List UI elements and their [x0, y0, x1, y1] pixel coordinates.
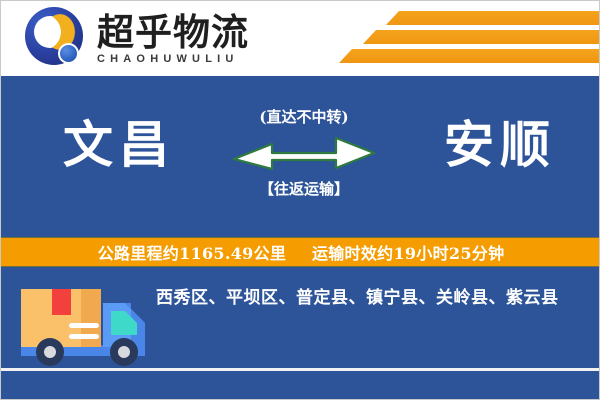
- banner-header: 超乎物流 CHAOHUWULIU: [1, 1, 600, 76]
- duration-text: 运输时效约19小时25分钟: [312, 244, 504, 263]
- brand-name-cn: 超乎物流: [97, 14, 249, 51]
- route-panel: 文昌 (直达不中转) 【往返运输】 安顺: [1, 76, 600, 237]
- stripe-3: [339, 49, 600, 63]
- brand-wordmark: 超乎物流 CHAOHUWULIU: [97, 14, 249, 65]
- brand-logo[interactable]: 超乎物流 CHAOHUWULIU: [25, 7, 249, 71]
- ground-line: [1, 368, 600, 371]
- coverage-districts-list: 西秀区、平坝区、普定县、镇宁县、关岭县、紫云县: [156, 283, 586, 308]
- origin-city: 文昌: [63, 120, 175, 170]
- route-caption-direct: (直达不中转): [229, 106, 379, 127]
- stripe-2: [363, 30, 600, 44]
- chaohu-logistics-circle-logo-icon: [25, 7, 89, 71]
- header-stripes-decoration: [301, 9, 600, 69]
- logistics-route-banner: 超乎物流 CHAOHUWULIU 文昌 (直达不中转) 【往返运输】 安顺 公路…: [0, 0, 600, 400]
- distance-text: 公路里程约1165.49公里: [98, 244, 287, 263]
- brand-name-pinyin: CHAOHUWULIU: [97, 54, 249, 65]
- route-caption-roundtrip: 【往返运输】: [229, 178, 379, 199]
- info-bar-text: 公路里程约1165.49公里 运输时效约19小时25分钟: [98, 240, 505, 264]
- logo-dot: [58, 43, 79, 64]
- route-arrow-group: (直达不中转) 【往返运输】: [229, 106, 379, 206]
- coverage-panel: 西秀区、平坝区、普定县、镇宁县、关岭县、紫云县: [1, 267, 600, 399]
- delivery-truck-icon: [19, 279, 154, 374]
- route-info-bar: 公路里程约1165.49公里 运输时效约19小时25分钟: [1, 237, 600, 267]
- double-headed-arrow-icon: [232, 132, 376, 172]
- stripe-1: [386, 11, 600, 25]
- destination-city: 安顺: [444, 120, 556, 170]
